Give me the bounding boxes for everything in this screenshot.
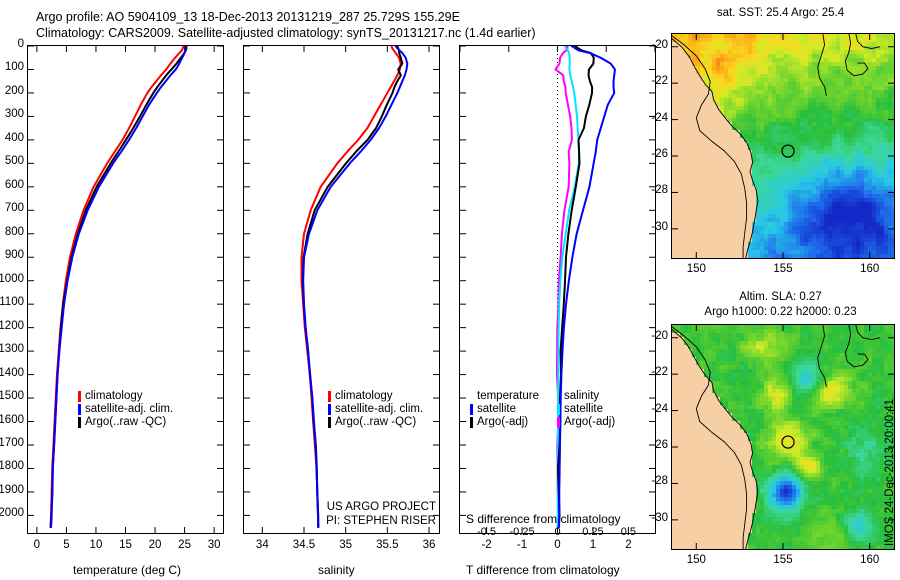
axis-tick-label: 300: [5, 108, 24, 120]
axis-tick-label: -30: [651, 512, 668, 524]
axis-tick-label: -1: [517, 539, 527, 551]
axis-tick-label: -2: [481, 539, 491, 551]
axis-tick-label: 2: [625, 539, 631, 551]
legend-color-swatch: [470, 417, 473, 428]
axis-tick-label: 0: [34, 539, 40, 551]
axis-tick-label: -28: [651, 184, 668, 196]
axis-tick-label: 800: [5, 226, 24, 238]
axis-tick-label: 0: [18, 38, 24, 50]
axis-tick-label: -26: [651, 148, 668, 160]
legend-label: satellite: [477, 403, 516, 416]
legend-item: satellite-adj. clim.: [78, 403, 173, 416]
axis-tick-label: 600: [5, 179, 24, 191]
axis-tick-label: 36: [423, 539, 436, 551]
axis-tick-label: 25: [178, 539, 191, 551]
legend-color-swatch: [557, 404, 560, 415]
axis-tick-label: 0.5: [621, 526, 636, 538]
temperature-panel-legend: climatologysatellite-adj. clim.Argo(..ra…: [78, 390, 173, 429]
axis-tick-label: -20: [651, 39, 668, 51]
axis-tick-label: 160: [860, 554, 879, 566]
axis-tick-label: 1900: [0, 484, 24, 496]
legend-color-swatch: [470, 404, 473, 415]
temperature-difference-axis-label: T difference from climatology: [466, 563, 620, 577]
axis-tick-label: 34: [256, 539, 269, 551]
sst-map-image: [672, 34, 894, 258]
axis-tick-label: -26: [651, 439, 668, 451]
legend-item: Argo(-adj): [470, 416, 539, 429]
sst-map-title: sat. SST: 25.4 Argo: 25.4: [668, 7, 893, 19]
legend-column-header: temperature: [470, 390, 539, 403]
legend-color-swatch: [328, 404, 331, 415]
axis-tick-label: 1700: [0, 437, 24, 449]
axis-tick-label: 1200: [0, 320, 24, 332]
legend-item: Argo(-adj): [557, 416, 615, 429]
axis-tick-label: -30: [651, 221, 668, 233]
axis-tick-label: -0.5: [477, 526, 496, 538]
axis-tick-label: 1400: [0, 367, 24, 379]
legend-item: Argo(..raw -QC): [78, 416, 173, 429]
legend-label: satellite-adj. clim.: [335, 403, 423, 416]
legend-color-swatch: [78, 391, 81, 402]
legend-label: satellite-adj. clim.: [85, 403, 173, 416]
axis-tick-label: 700: [5, 202, 24, 214]
legend-color-swatch: [328, 391, 331, 402]
axis-tick-label: -22: [651, 75, 668, 87]
difference-profile-plot: [460, 46, 655, 533]
axis-tick-label: 1100: [0, 296, 24, 308]
salinity-axis-label: salinity: [318, 563, 355, 577]
legend-color-swatch: [78, 404, 81, 415]
legend-item: satellite-adj. clim.: [328, 403, 423, 416]
legend-color-swatch: [557, 417, 560, 428]
figure-title-line2: Climatology: CARS2009. Satellite-adjuste…: [36, 26, 536, 40]
axis-tick-label: 1: [590, 539, 596, 551]
legend-item: climatology: [328, 390, 423, 403]
axis-tick-label: -0.25: [509, 526, 534, 538]
legend-label: climatology: [335, 390, 393, 403]
legend-color-swatch: [78, 417, 81, 428]
credit-line1: US ARGO PROJECT: [258, 500, 436, 514]
legend-label: satellite: [564, 403, 603, 416]
axis-tick-label: 1000: [0, 273, 24, 285]
legend-item: climatology: [78, 390, 173, 403]
axis-tick-label: 1600: [0, 414, 24, 426]
axis-tick-label: 0.25: [582, 526, 603, 538]
legend-column: salinitysatelliteArgo(-adj): [557, 390, 615, 429]
axis-tick-label: 35: [339, 539, 352, 551]
axis-tick-label: 150: [687, 263, 706, 275]
legend-item: satellite: [557, 403, 615, 416]
temperature-profile-plot: [28, 46, 223, 533]
axis-tick-label: 155: [773, 554, 792, 566]
salinity-difference-axis-label: S difference from climatology: [466, 512, 621, 526]
figure-title-line1: Argo profile: AO 5904109_13 18-Dec-2013 …: [36, 10, 460, 24]
axis-tick-label: 10: [90, 539, 103, 551]
difference-profile-panel: [459, 45, 656, 534]
axis-tick-label: 35.5: [376, 539, 398, 551]
axis-tick-label: 5: [63, 539, 69, 551]
axis-tick-label: 1300: [0, 343, 24, 355]
axis-tick-label: 20: [149, 539, 162, 551]
legend-label: climatology: [85, 390, 143, 403]
sla-map-title-line1: Altim. SLA: 0.27: [668, 291, 893, 303]
legend-column: temperaturesatelliteArgo(-adj): [470, 390, 539, 429]
imos-timestamp: IMOS 24-Dec-2013 20:00:41: [884, 399, 896, 546]
sla-map-title-line2: Argo h1000: 0.22 h2000: 0.23: [656, 306, 900, 318]
axis-tick-label: 400: [5, 132, 24, 144]
axis-tick-label: 500: [5, 155, 24, 167]
legend-label: Argo(..raw -QC): [85, 416, 166, 429]
axis-tick-label: -28: [651, 475, 668, 487]
salinity-profile-plot: [244, 46, 439, 533]
axis-tick-label: 34.5: [293, 539, 315, 551]
axis-tick-label: 155: [773, 263, 792, 275]
axis-tick-label: -24: [651, 112, 668, 124]
credit-line2: PI: STEPHEN RISER: [258, 514, 436, 528]
axis-tick-label: 2000: [0, 507, 24, 519]
sla-map-image: [672, 325, 894, 549]
temperature-axis-label: temperature (deg C): [73, 563, 181, 577]
legend-label: Argo(..raw -QC): [335, 416, 416, 429]
axis-tick-label: -22: [651, 366, 668, 378]
difference-panel-legend: temperaturesatelliteArgo(-adj)salinitysa…: [470, 390, 615, 429]
legend-item: Argo(..raw -QC): [328, 416, 423, 429]
axis-tick-label: 30: [208, 539, 221, 551]
legend-column-header: salinity: [557, 390, 615, 403]
sla-map-panel: [671, 324, 895, 550]
axis-tick-label: 15: [119, 539, 132, 551]
axis-tick-label: 1500: [0, 390, 24, 402]
legend-color-swatch: [328, 417, 331, 428]
axis-tick-label: 150: [687, 554, 706, 566]
legend-item: satellite: [470, 403, 539, 416]
salinity-profile-panel: [243, 45, 440, 534]
legend-label: Argo(-adj): [564, 416, 615, 429]
axis-tick-label: 0: [554, 526, 560, 538]
legend-label: Argo(-adj): [477, 416, 528, 429]
axis-tick-label: -24: [651, 403, 668, 415]
axis-tick-label: 100: [5, 61, 24, 73]
axis-tick-label: -20: [651, 330, 668, 342]
axis-tick-label: 200: [5, 85, 24, 97]
axis-tick-label: 900: [5, 249, 24, 261]
axis-tick-label: 160: [860, 263, 879, 275]
axis-tick-label: 1800: [0, 460, 24, 472]
salinity-panel-legend: climatologysatellite-adj. clim.Argo(..ra…: [328, 390, 423, 429]
sst-map-panel: [671, 33, 895, 259]
argo-project-credit: US ARGO PROJECT PI: STEPHEN RISER: [258, 500, 436, 528]
temperature-profile-panel: [27, 45, 224, 534]
axis-tick-label: 0: [554, 539, 560, 551]
